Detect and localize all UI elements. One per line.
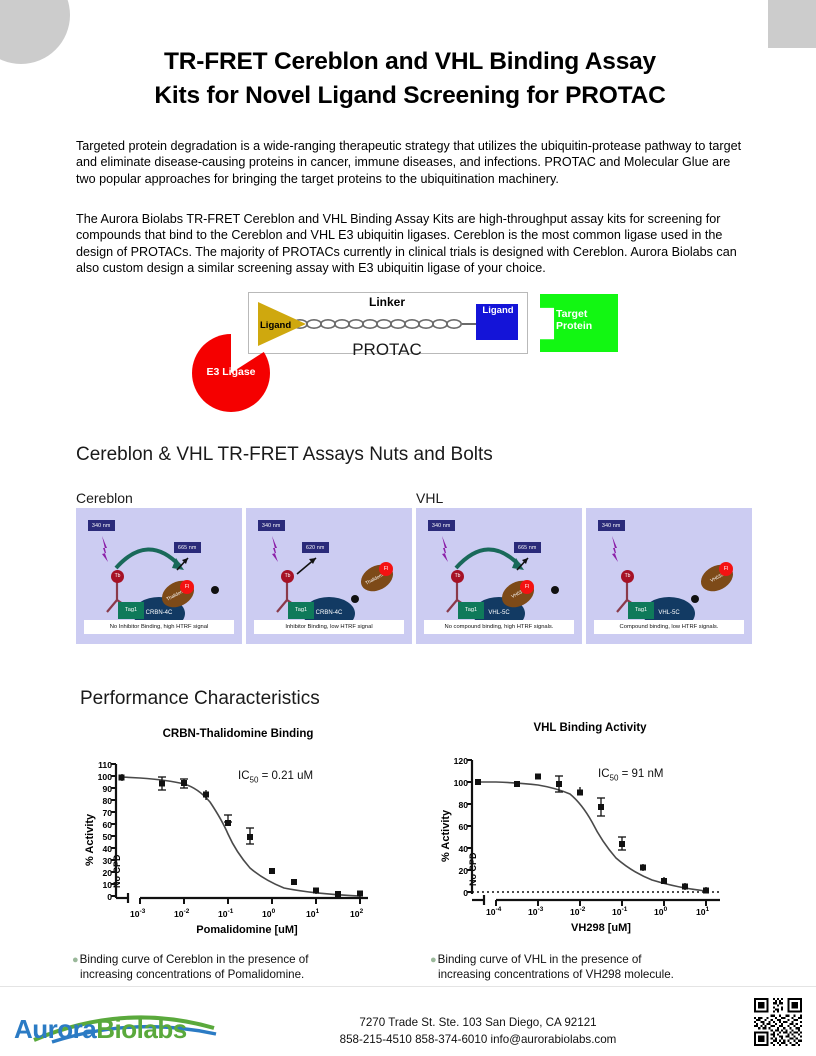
- figure-caption-1-line-2: increasing concentrations of Pomalidomin…: [72, 968, 392, 982]
- chart-2-plot-area: [430, 722, 750, 942]
- chart-vhl-binding: VHL Binding Activity IC50 = 91 nM % Acti…: [430, 722, 750, 942]
- figure-caption-1: ●Binding curve of Cereblon in the presen…: [72, 953, 392, 982]
- footer-contact-block: 7270 Trade St. Ste. 103 San Diego, CA 92…: [258, 1015, 698, 1049]
- compound-dot-panel-3: [551, 586, 559, 594]
- ligand-left-label: Ligand: [260, 320, 291, 331]
- assay-group-label-cereblon: Cereblon: [76, 490, 133, 506]
- chart-1-fit-curve: [122, 777, 360, 896]
- logo-aurora-text: Aurora: [14, 1014, 96, 1044]
- compound-dot-panel-4: [691, 595, 699, 603]
- tag-label-panel-4: Tag1: [628, 602, 654, 619]
- excitation-bolt-icon: [612, 536, 618, 562]
- chart-1-plot-area: [78, 728, 398, 943]
- tag-label-panel-3: Tag1: [458, 602, 484, 619]
- section-header-assays: Cereblon & VHL TR-FRET Assays Nuts and B…: [76, 444, 493, 466]
- assay-panel-3: 340 nm 665 nm Tb VHL-5C Tag1 VH032 Fl No…: [416, 508, 582, 644]
- figure-caption-1-line-1: Binding curve of Cereblon in the presenc…: [80, 953, 309, 966]
- chart-1-data-markers: [119, 775, 364, 898]
- logo-biolabs-text: Biolabs: [96, 1014, 186, 1044]
- tag-label-panel-1: Tag1: [118, 602, 144, 619]
- assay-caption-panel-2: Inhibitor Binding, low HTRF signal: [254, 620, 404, 634]
- protac-label: PROTAC: [248, 340, 526, 360]
- page-title-line-1: TR-FRET Cereblon and VHL Binding Assay: [70, 45, 750, 79]
- protac-diagram: Linker Ligand Ligand PROTAC E3 Ligase Ta…: [180, 290, 640, 415]
- intro-paragraph-1: Targeted protein degradation is a wide-r…: [76, 138, 750, 187]
- tag-label-panel-2: Tag1: [288, 602, 314, 619]
- terbium-donor-panel-1: Tb: [111, 570, 124, 583]
- fret-transfer-arrow: [116, 549, 180, 568]
- figure-caption-2: ●Binding curve of VHL in the presence of…: [430, 953, 760, 982]
- top-left-decorative-circle: [0, 0, 70, 64]
- assay-caption-panel-4: Compound binding, low HTRF signals.: [594, 620, 744, 634]
- footer-contact: 858-215-4510 858-374-6010 info@aurorabio…: [258, 1032, 698, 1049]
- chart-2-data-markers: [475, 774, 709, 894]
- caption-bullet-icon-2: ●: [430, 954, 437, 966]
- intro-paragraph-2: The Aurora Biolabs TR-FRET Cereblon and …: [76, 211, 750, 276]
- page-title: TR-FRET Cereblon and VHL Binding Assay K…: [70, 45, 750, 113]
- figure-caption-2-line-1: Binding curve of VHL in the presence of: [438, 953, 642, 966]
- target-protein-line-2: Protein: [556, 320, 592, 332]
- excitation-bolt-icon: [272, 536, 278, 562]
- fluorophore-acceptor-panel-2: Fl: [379, 562, 393, 576]
- assay-panel-1: 340 nm 665 nm Tb CRBN-4C Tag1 Thalidomid…: [76, 508, 242, 644]
- footer-divider: [0, 986, 816, 987]
- fluorophore-acceptor-panel-1: Fl: [180, 580, 194, 594]
- figure-caption-2-line-2: increasing concentrations of VH298 molec…: [430, 968, 760, 982]
- caption-bullet-icon-1: ●: [72, 954, 79, 966]
- target-protein-label: Target Protein: [556, 309, 618, 332]
- assay-group-label-vhl: VHL: [416, 490, 443, 506]
- company-logo-text: AuroraBiolabs: [14, 1014, 187, 1045]
- section-header-performance: Performance Characteristics: [80, 688, 320, 710]
- assay-panel-4: 340 nm Tb VHL-5C Tag1 VH032 Fl Compound …: [586, 508, 752, 644]
- qr-code[interactable]: [752, 996, 804, 1048]
- fluorophore-acceptor-panel-4: Fl: [719, 562, 733, 576]
- top-right-decorative-rectangle: [768, 0, 816, 48]
- terbium-donor-panel-3: Tb: [451, 570, 464, 583]
- compound-dot-panel-1: [211, 586, 219, 594]
- chart-crbn-thalidomide: CRBN-Thalidomine Binding IC50 = 0.21 uM …: [78, 728, 398, 943]
- excitation-bolt-icon: [102, 536, 108, 562]
- assay-caption-panel-1: No Inhibitor Binding, high HTRF signal: [84, 620, 234, 634]
- chart-2-fit-curve: [478, 782, 706, 891]
- fluorophore-acceptor-panel-3: Fl: [520, 580, 534, 594]
- assay-caption-panel-3: No compound binding, high HTRF signals.: [424, 620, 574, 634]
- section-header-performance-label: Performance Characteristics: [80, 688, 320, 709]
- terbium-donor-panel-4: Tb: [621, 570, 634, 583]
- compound-dot-panel-2: [351, 595, 359, 603]
- e3-ligase-label: E3 Ligase: [190, 366, 272, 378]
- assay-panel-2: 340 nm 620 nm Tb CRBN-4C Tag1 Thalidomid…: [246, 508, 412, 644]
- linker-chain-icon: [292, 318, 476, 330]
- excitation-bolt-icon: [442, 536, 448, 562]
- section-header-assays-label: Cereblon & VHL TR-FRET Assays Nuts and B…: [76, 444, 493, 465]
- terbium-donor-panel-2: Tb: [281, 570, 294, 583]
- ligand-right-label: Ligand: [477, 305, 519, 316]
- page-title-line-2: Kits for Novel Ligand Screening for PROT…: [70, 79, 750, 113]
- footer-address: 7270 Trade St. Ste. 103 San Diego, CA 92…: [258, 1015, 698, 1032]
- fret-transfer-arrow: [456, 549, 520, 568]
- target-protein-line-1: Target: [556, 308, 587, 320]
